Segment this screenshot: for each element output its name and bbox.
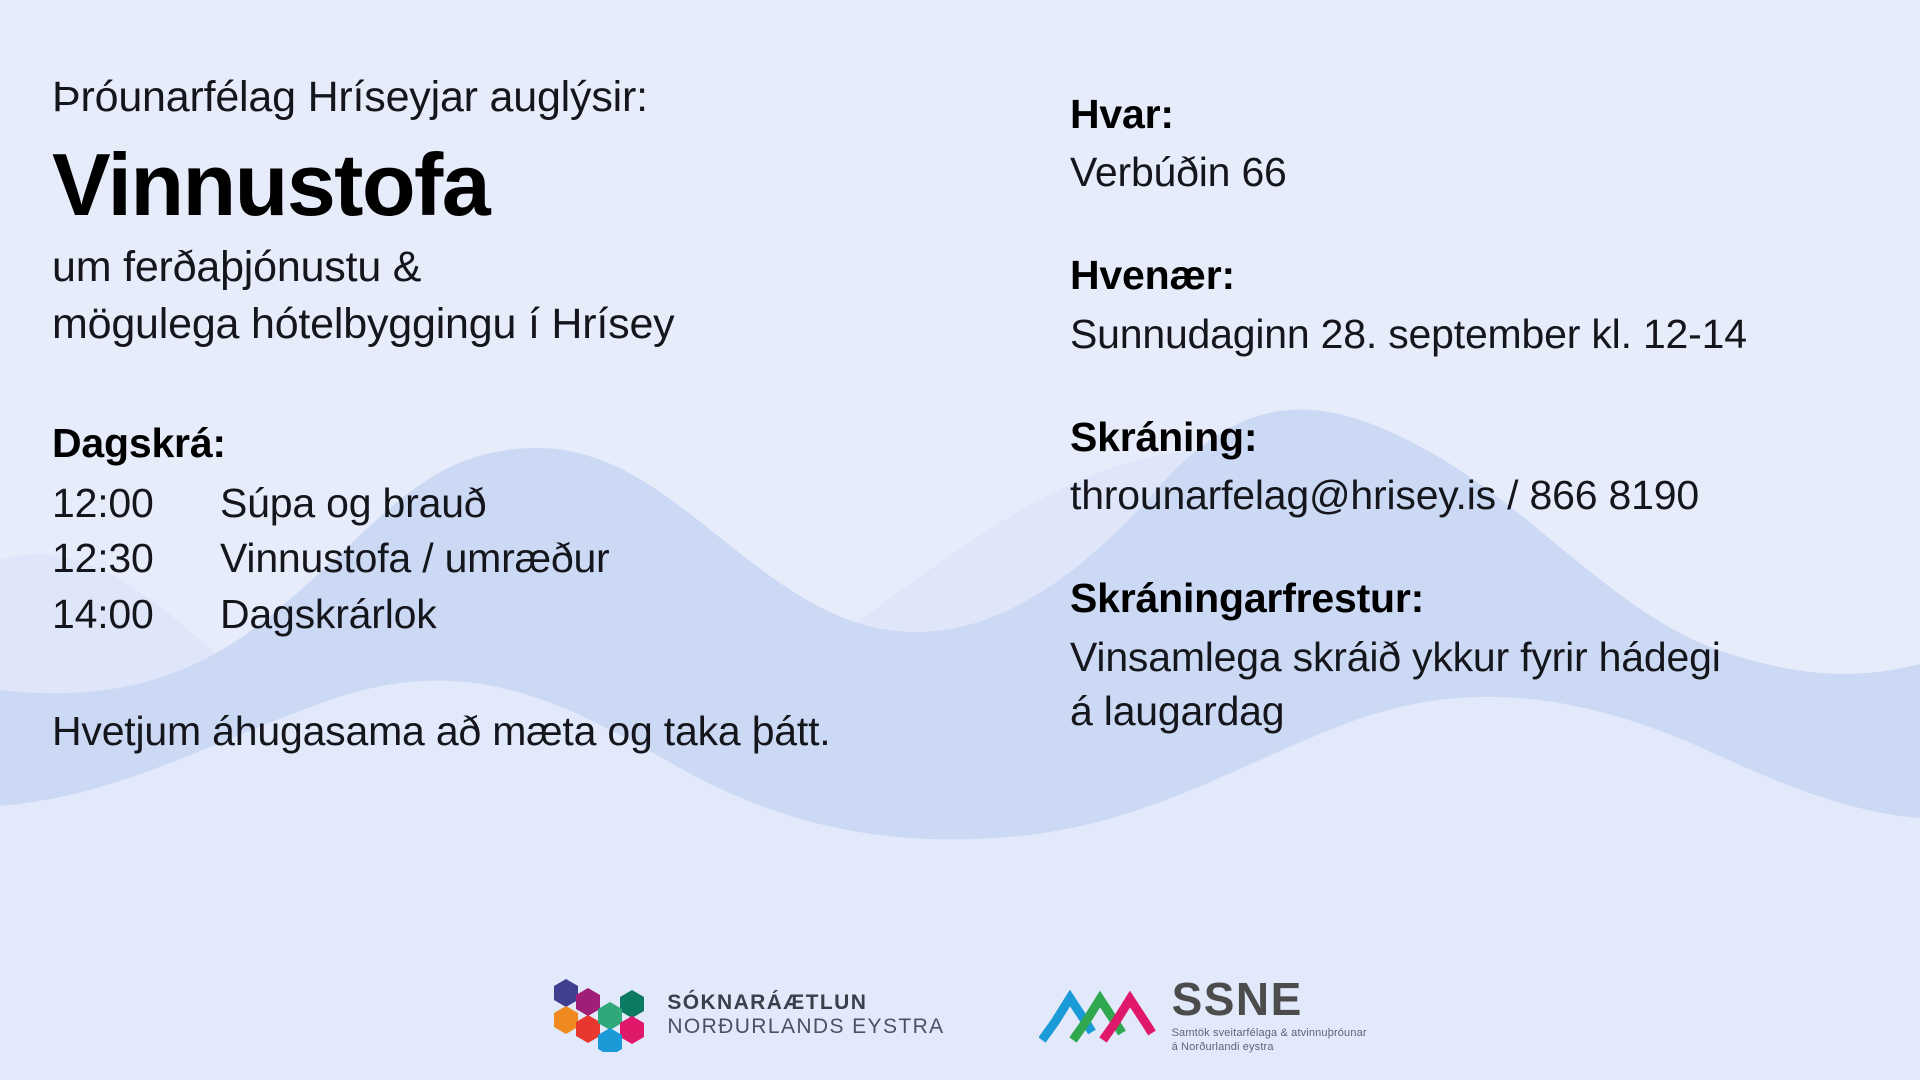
hexagon-icon [620,990,644,1018]
agenda-description: Súpa og brauð [220,476,1012,532]
closing-invitation-text: Hvetjum áhugasama að mæta og taka þátt. [52,705,1012,758]
info-block-deadline: Skráningarfrestur: Vinsamlega skráið ykk… [1070,572,1870,738]
logo-ssne: SSNE Samtök sveitarfélaga & atvinnuþróun… [1039,976,1367,1054]
info-value: Sunnudaginn 28. september kl. 12-14 [1070,307,1870,361]
ssne-tagline-line-1: Samtök sveitarfélaga & atvinnuþróunar [1172,1026,1367,1040]
info-block-registration: Skráning: throunarfelag@hrisey.is / 866 … [1070,411,1870,522]
hexagon-icon [598,1002,622,1030]
info-label: Skráningarfrestur: [1070,572,1870,625]
subtitle-line-1: um ferðaþjónustu & [52,239,1012,296]
ssne-mountains-icon [1039,984,1157,1046]
agenda-row: 12:30 Vinnustofa / umræður [52,531,1012,587]
info-block-location: Hvar: Verbúðin 66 [1070,88,1870,199]
agenda-description: Vinnustofa / umræður [220,531,1012,587]
hexagon-cluster-icon [553,978,649,1052]
hexagon-icon [598,1028,622,1052]
info-label: Hvar: [1070,88,1870,141]
info-value: Verbúðin 66 [1070,145,1870,199]
agenda-time: 14:00 [52,587,220,643]
hexagon-icon [554,979,578,1007]
ssne-tagline: Samtök sveitarfélaga & atvinnuþróunar á … [1172,1026,1367,1054]
soknaraaetlun-line-2: NORÐURLANDS EYSTRA [667,1015,944,1039]
agenda-time: 12:00 [52,476,220,532]
agenda-section: Dagskrá: 12:00 Súpa og brauð 12:30 Vinnu… [52,416,1012,643]
agenda-row: 14:00 Dagskrárlok [52,587,1012,643]
left-column: Þróunarfélag Hríseyjar auglýsir: Vinnust… [52,72,1012,758]
ssne-tagline-line-2: á Norðurlandi eystra [1172,1040,1367,1054]
soknaraaetlun-line-1: SÓKNARÁÆTLUN [667,991,944,1015]
info-label: Skráning: [1070,411,1870,464]
soknaraaetlun-wordmark: SÓKNARÁÆTLUN NORÐURLANDS EYSTRA [667,991,944,1038]
hexagon-icon [554,1006,578,1034]
ssne-word: SSNE [1172,976,1367,1022]
footer-logos: SÓKNARÁÆTLUN NORÐURLANDS EYSTRA SSNE S [0,976,1920,1054]
right-column: Hvar: Verbúðin 66 Hvenær: Sunnudaginn 28… [1070,88,1870,738]
subtitle-text: um ferðaþjónustu & mögulega hótelbygging… [52,239,1012,353]
hexagon-icon [620,1016,644,1044]
agenda-heading: Dagskrá: [52,416,1012,470]
agenda-row: 12:00 Súpa og brauð [52,476,1012,532]
info-value: Vinsamlega skráið ykkur fyrir hádegi á l… [1070,630,1870,738]
kicker-text: Þróunarfélag Hríseyjar auglýsir: [52,72,1012,123]
info-label: Hvenær: [1070,249,1870,302]
subtitle-line-2: mögulega hótelbyggingu í Hrísey [52,296,1012,353]
info-value-line: Verbúðin 66 [1070,145,1870,199]
info-value-line: Vinsamlega skráið ykkur fyrir hádegi [1070,630,1870,684]
poster-content: Þróunarfélag Hríseyjar auglýsir: Vinnust… [0,0,1920,1080]
hexagon-icon [576,988,600,1016]
agenda-time: 12:30 [52,531,220,587]
info-value: throunarfelag@hrisey.is / 866 8190 [1070,468,1870,522]
info-value-line: Sunnudaginn 28. september kl. 12-14 [1070,307,1870,361]
info-value-line: á laugardag [1070,684,1870,738]
hexagon-icon [576,1015,600,1043]
page-title: Vinnustofa [52,139,1012,231]
ssne-wordmark: SSNE Samtök sveitarfélaga & atvinnuþróun… [1172,976,1367,1054]
agenda-description: Dagskrárlok [220,587,1012,643]
info-block-datetime: Hvenær: Sunnudaginn 28. september kl. 12… [1070,249,1870,360]
registration-contact-line[interactable]: throunarfelag@hrisey.is / 866 8190 [1070,468,1870,522]
poster-root: Þróunarfélag Hríseyjar auglýsir: Vinnust… [0,0,1920,1080]
logo-soknaraaetlun: SÓKNARÁÆTLUN NORÐURLANDS EYSTRA [553,978,944,1052]
